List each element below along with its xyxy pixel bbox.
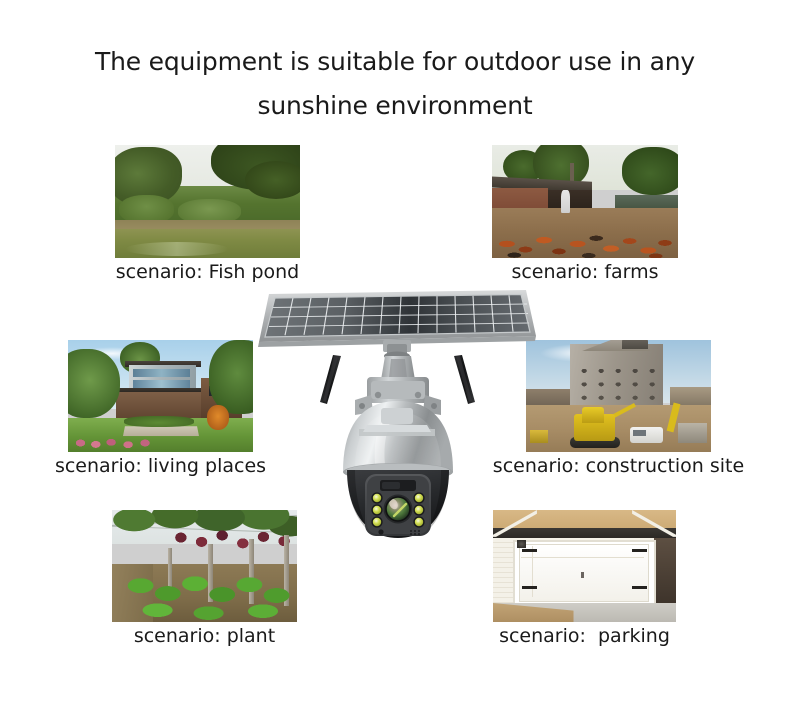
villa-window-row-2 <box>133 380 190 388</box>
solar-panel <box>258 290 536 347</box>
scenario-caption-plant: scenario: plant <box>134 624 275 648</box>
page-title-line1: The equipment is suitable for outdoor us… <box>95 47 695 76</box>
door-hinge-right-bottom <box>632 586 647 589</box>
scenario-caption-parking: scenario: parking <box>499 624 670 648</box>
infographic-canvas: The equipment is suitable for outdoor us… <box>0 0 790 726</box>
scenario-image-construction-site <box>526 340 711 452</box>
villa-window-row-1 <box>133 369 190 377</box>
tree-right <box>622 147 678 194</box>
camera-head <box>347 470 449 538</box>
autumn-tree <box>207 405 229 430</box>
page-title-line2: sunshine environment <box>0 84 790 128</box>
page-title: The equipment is suitable for outdoor us… <box>0 40 790 128</box>
scenario-image-fish-pond <box>115 145 300 258</box>
scenario-card-construction-site: scenario: construction site <box>526 340 711 452</box>
scenario-card-living-places: scenario: living places <box>68 340 253 452</box>
farmer <box>561 190 570 213</box>
shadowed-wall <box>654 538 676 603</box>
vegetable-rows <box>127 571 297 620</box>
water-reflection <box>126 242 228 256</box>
scenario-caption-living-places: scenario: living places <box>55 454 266 478</box>
scenario-image-farms <box>492 145 678 258</box>
antenna-right <box>454 355 475 404</box>
door-hinge-left-bottom <box>522 586 537 589</box>
excavator-cab <box>582 407 604 423</box>
scenario-card-farms: scenario: farms <box>492 145 678 258</box>
door-handle <box>581 572 585 579</box>
building-windows <box>574 365 659 408</box>
flower-bed <box>72 436 157 449</box>
shrub-row <box>124 416 194 427</box>
building-tower <box>622 340 648 349</box>
scenario-card-fish-pond: scenario: Fish pond <box>115 145 300 258</box>
van-window <box>633 430 646 437</box>
scenario-image-living-places <box>68 340 253 452</box>
solar-powered-ptz-camera <box>255 276 540 546</box>
door-hinge-left-top <box>522 549 537 552</box>
tree-right <box>209 340 253 414</box>
concrete-block <box>678 423 708 443</box>
antenna-left <box>320 355 341 404</box>
garden-path <box>123 426 199 436</box>
chicken-flock <box>492 211 678 258</box>
door-hinge-right-top <box>632 549 647 552</box>
